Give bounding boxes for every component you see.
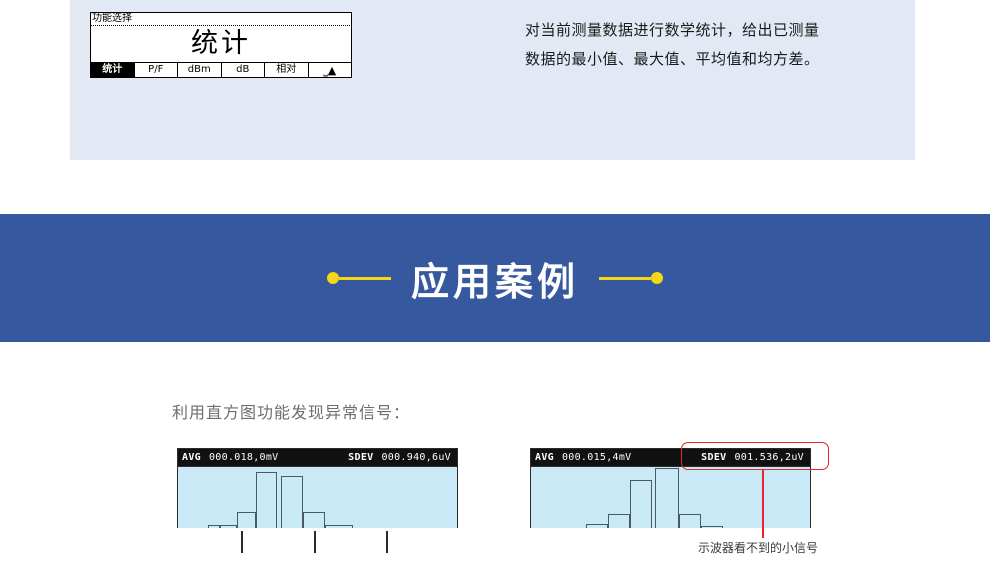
sdev-label: SDEV [348, 452, 373, 463]
sdev-callout-leader-line [762, 470, 764, 538]
softkey-label: dBm [188, 65, 211, 75]
avg-label: AVG [535, 452, 554, 463]
histogram-bar [256, 472, 277, 528]
histogram-bar [281, 476, 303, 528]
histogram-bar [701, 526, 723, 528]
lcd-main-value: 统计 [191, 30, 251, 57]
lcd-softkey-row: 统计 P/F dBm dB 相对 ⎵▲ [91, 62, 351, 77]
feature-description: 对当前测量数据进行数学统计，给出已测量 数据的最小值、最大值、平均值和均方差。 [525, 16, 900, 74]
softkey-label: P/F [148, 65, 163, 75]
instrument-lcd: 功能选择 统计 统计 P/F dBm dB 相对 ⎵▲ [90, 12, 352, 78]
banner-line-icon [339, 277, 391, 280]
softkey-db[interactable]: dB [222, 63, 266, 77]
page-root: 功能选择 统计 统计 P/F dBm dB 相对 ⎵▲ [0, 0, 990, 563]
sdev-group-left: SDEV 000.940,6uV [348, 452, 451, 463]
histogram-bar [237, 512, 256, 528]
softkey-label: 统计 [102, 65, 122, 75]
softkey-pf[interactable]: P/F [135, 63, 179, 77]
sdev-value: 001.536,2uV [734, 452, 804, 463]
banner-inner: 应用案例 [327, 251, 663, 306]
avg-value: 000.018,0mV [209, 452, 279, 463]
section-banner: 应用案例 [0, 214, 990, 342]
histogram-bar [586, 524, 608, 528]
histogram-plot-right [531, 466, 810, 528]
banner-dot-icon [327, 272, 339, 284]
lcd-header: 功能选择 [91, 13, 351, 26]
softkey-tongji[interactable]: 统计 [91, 63, 135, 77]
lcd-main-readout: 统计 [91, 26, 351, 61]
histogram-leader-line [241, 531, 243, 553]
softkey-xiangdui[interactable]: 相对 [265, 63, 309, 77]
sdev-value: 000.940,6uV [381, 452, 451, 463]
histogram-display-left: AVG 000.018,0mV SDEV 000.940,6uV [177, 448, 458, 528]
avg-label: AVG [182, 452, 201, 463]
histogram-bar [303, 512, 325, 528]
softkey-label: dB [236, 65, 249, 75]
avg-group-left: AVG 000.018,0mV [182, 452, 279, 463]
return-arrow-icon: ⎵▲ [323, 65, 336, 76]
histogram-bar [220, 525, 237, 528]
description-line-2: 数据的最小值、最大值、平均值和均方差。 [525, 45, 900, 74]
histogram-stats-bar-right: AVG 000.015,4mV SDEV 001.536,2uV [531, 449, 810, 466]
histogram-bar [208, 525, 220, 528]
histogram-plot-left [178, 466, 457, 528]
banner-decoration-left [327, 272, 391, 284]
sdev-label: SDEV [701, 452, 726, 463]
banner-decoration-right [599, 272, 663, 284]
histogram-leader-line [314, 531, 316, 553]
histogram-bar [608, 514, 630, 528]
histogram-stats-bar-left: AVG 000.018,0mV SDEV 000.940,6uV [178, 449, 457, 466]
banner-line-icon [599, 277, 651, 280]
histogram-bar [630, 480, 652, 528]
histogram-bar [679, 514, 701, 528]
case-caption: 利用直方图功能发现异常信号： [172, 399, 410, 423]
histogram-bar [325, 525, 353, 528]
softkey-dbm[interactable]: dBm [178, 63, 222, 77]
banner-dot-icon [651, 272, 663, 284]
lcd-header-dotted-divider [91, 25, 350, 26]
sdev-callout-note: 示波器看不到的小信号 [698, 539, 818, 556]
histogram-bar [655, 468, 679, 528]
histogram-leader-line [386, 531, 388, 553]
banner-title: 应用案例 [411, 251, 579, 306]
softkey-return[interactable]: ⎵▲ [309, 63, 352, 77]
lcd-header-label: 功能选择 [92, 13, 134, 24]
sdev-group-right: SDEV 001.536,2uV [701, 452, 804, 463]
description-line-1: 对当前测量数据进行数学统计，给出已测量 [525, 16, 900, 45]
avg-group-right: AVG 000.015,4mV [535, 452, 632, 463]
histogram-display-right: AVG 000.015,4mV SDEV 001.536,2uV [530, 448, 811, 528]
avg-value: 000.015,4mV [562, 452, 632, 463]
softkey-label: 相对 [276, 65, 296, 75]
